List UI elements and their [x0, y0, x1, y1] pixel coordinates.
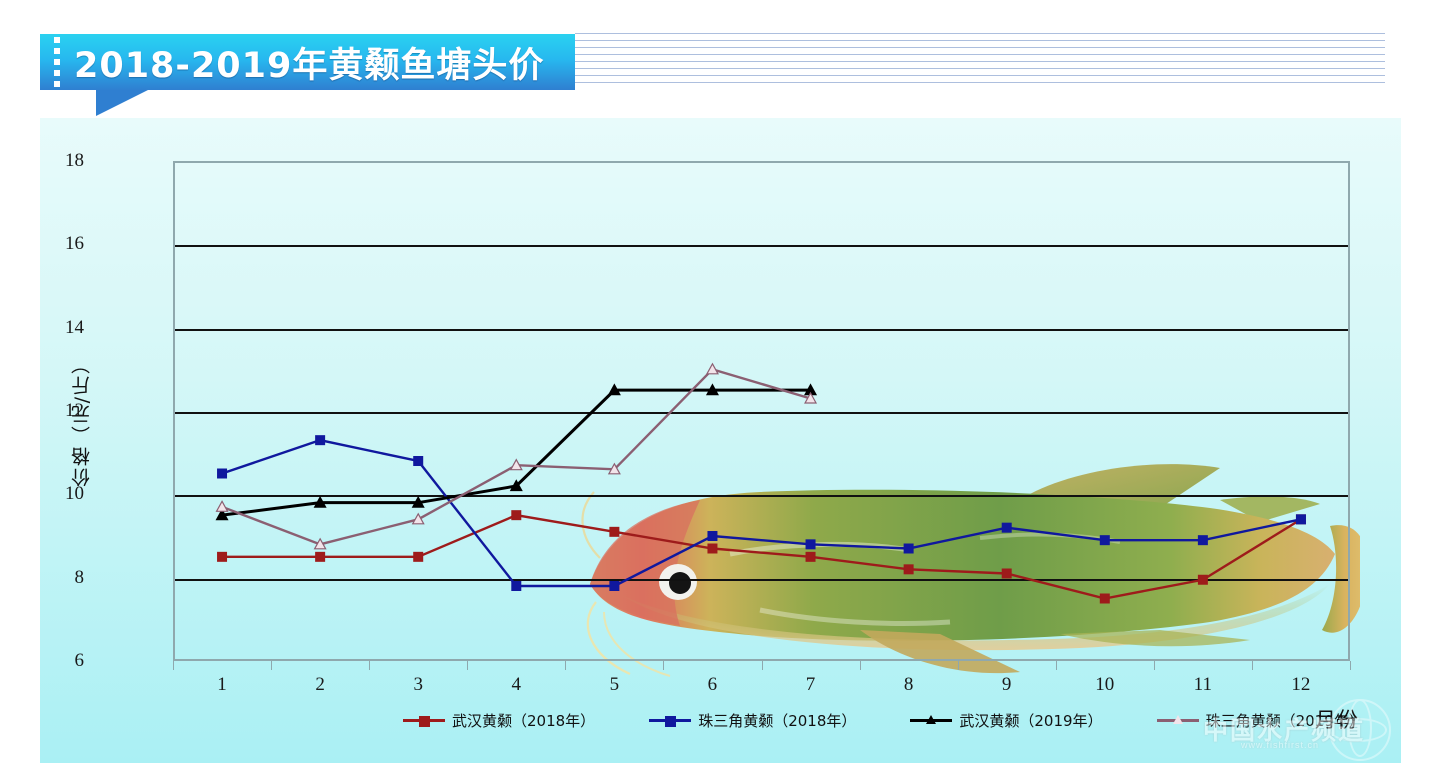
page-header: 2018-2019年黄颡鱼塘头价 — [0, 0, 1441, 118]
x-axis-tick-label: 7 — [761, 674, 859, 704]
x-axis-tick-label: 12 — [1252, 674, 1350, 704]
data-point — [904, 565, 913, 574]
x-axis-tick-label: 3 — [369, 674, 467, 704]
series-2 — [217, 385, 817, 520]
y-axis-tick-label: 18 — [44, 150, 84, 172]
legend-item-0[interactable]: 武汉黄颡（2018年） — [403, 710, 595, 731]
legend-label: 武汉黄颡（2019年） — [959, 710, 1102, 731]
x-axis-tick-label: 2 — [271, 674, 369, 704]
x-axis-tick-label: 9 — [958, 674, 1056, 704]
data-point — [316, 436, 325, 445]
data-point — [708, 544, 717, 553]
data-point — [218, 469, 227, 478]
data-point — [707, 364, 718, 374]
x-axis-tick-label: 8 — [860, 674, 958, 704]
data-point — [512, 511, 521, 520]
data-series-layer — [173, 161, 1350, 661]
y-axis-tick-label: 10 — [44, 483, 84, 505]
x-axis-tick-label: 11 — [1154, 674, 1252, 704]
data-point — [1002, 523, 1011, 532]
series-1 — [218, 436, 1306, 591]
data-point — [806, 552, 815, 561]
x-axis-tick-label: 1 — [173, 674, 271, 704]
data-point — [218, 552, 227, 561]
data-point — [1100, 594, 1109, 603]
legend-label: 珠三角黄颡（2018年） — [698, 710, 856, 731]
series-line — [222, 440, 1301, 586]
data-point — [1198, 575, 1207, 584]
y-axis-tick-label: 14 — [44, 317, 84, 339]
data-point — [1002, 569, 1011, 578]
data-point — [512, 582, 521, 591]
data-point — [217, 501, 228, 511]
legend-swatch — [403, 713, 445, 727]
data-point — [1100, 536, 1109, 545]
data-point — [414, 552, 423, 561]
watermark-url: www.fishfirst.cn — [1241, 740, 1319, 750]
x-axis-labels: 123456789101112 — [173, 674, 1350, 704]
y-axis-tick-label: 8 — [44, 567, 84, 589]
data-point — [806, 540, 815, 549]
legend-item-2[interactable]: 武汉黄颡（2019年） — [910, 710, 1102, 731]
data-point — [610, 582, 619, 591]
data-point — [904, 544, 913, 553]
legend-item-3[interactable]: 珠三角黄颡（2019年） — [1157, 710, 1364, 731]
series-line — [222, 390, 811, 515]
legend-label: 珠三角黄颡（2019年） — [1206, 710, 1364, 731]
data-point — [610, 527, 619, 536]
decorative-lines — [575, 33, 1385, 95]
y-axis-tick-label: 6 — [44, 650, 84, 672]
x-axis-tick-label: 10 — [1056, 674, 1154, 704]
y-axis-tick-label: 16 — [44, 233, 84, 255]
legend-swatch — [649, 713, 691, 727]
y-axis-tick-label: 12 — [44, 400, 84, 422]
chart-container: 价格（元/斤） — [40, 118, 1401, 763]
data-point — [316, 552, 325, 561]
legend-item-1[interactable]: 珠三角黄颡（2018年） — [649, 710, 856, 731]
data-point — [1296, 515, 1305, 524]
banner-dots-icon — [40, 34, 74, 90]
x-axis-tick-label: 4 — [467, 674, 565, 704]
data-point — [1198, 536, 1207, 545]
series-0 — [218, 511, 1306, 603]
legend-swatch — [910, 713, 952, 727]
x-axis-tick-label: 6 — [663, 674, 761, 704]
banner-tail-shape — [96, 90, 148, 116]
legend-label: 武汉黄颡（2018年） — [452, 710, 595, 731]
data-point — [708, 532, 717, 541]
data-point — [413, 514, 424, 524]
title-banner: 2018-2019年黄颡鱼塘头价 — [40, 34, 575, 90]
data-point — [414, 457, 423, 466]
chart-legend: 武汉黄颡（2018年）珠三角黄颡（2018年）武汉黄颡（2019年）珠三角黄颡（… — [173, 706, 1353, 734]
page-title: 2018-2019年黄颡鱼塘头价 — [74, 37, 544, 88]
x-axis-tick-label: 5 — [565, 674, 663, 704]
legend-swatch — [1157, 713, 1199, 727]
